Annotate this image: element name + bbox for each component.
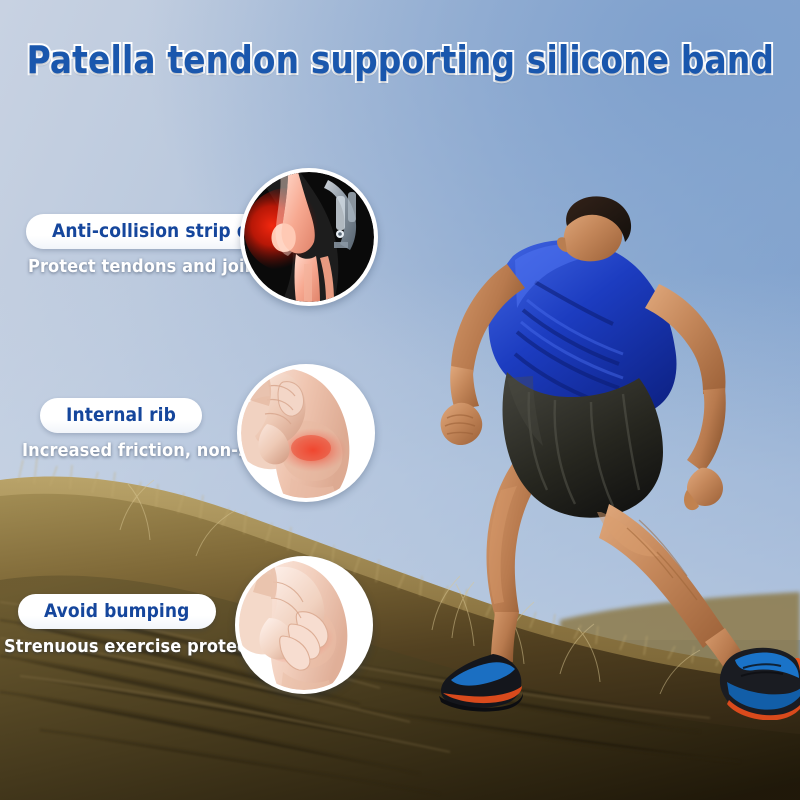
runner-front-shoe xyxy=(720,648,800,720)
feature-pill-internal-rib[interactable]: Internal rib xyxy=(40,398,202,433)
feature-pill-label: Avoid bumping xyxy=(44,600,190,622)
knee-pain-hold-thumb xyxy=(235,556,373,694)
feature-pill-avoid-bumping[interactable]: Avoid bumping xyxy=(18,594,216,629)
hand-gripping-knee-thumb xyxy=(237,364,375,502)
knee-xray-illustration xyxy=(244,172,374,302)
product-poster: Patella tendon supporting silicone band … xyxy=(0,0,800,800)
knee-xray-anatomy-thumb xyxy=(240,168,378,306)
runner-figure xyxy=(395,160,800,720)
hand-gripping-knee-illustration xyxy=(241,368,371,498)
runner-back-shoe xyxy=(439,654,523,712)
knee-pain-hold-illustration xyxy=(239,560,369,690)
feature-subtitle: Increased friction, non-slip xyxy=(22,440,271,461)
runner-front-leg xyxy=(597,504,749,676)
runner-head xyxy=(557,196,631,261)
feature-pill-label: Internal rib xyxy=(66,404,176,426)
